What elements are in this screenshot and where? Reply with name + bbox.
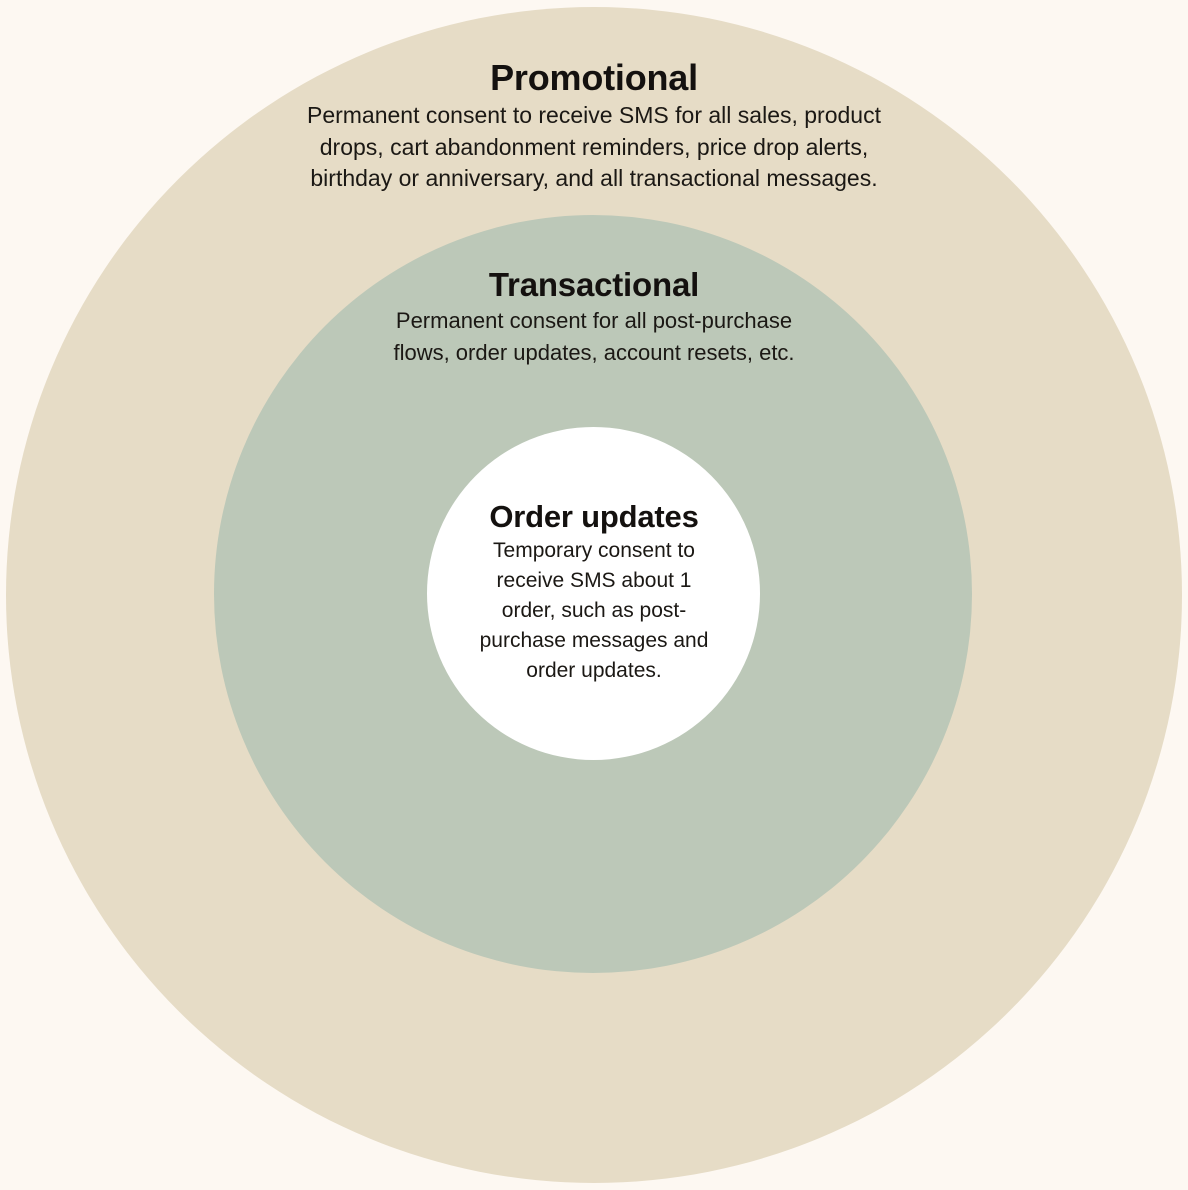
order-updates-text-block: Order updates Temporary consent to recei…	[440, 497, 748, 686]
order-updates-title: Order updates	[440, 497, 748, 536]
transactional-title: Transactional	[348, 264, 840, 305]
order-updates-description: Temporary consent to receive SMS about 1…	[440, 536, 748, 686]
consent-tiers-diagram: Promotional Permanent consent to receive…	[0, 0, 1188, 1190]
transactional-text-block: Transactional Permanent consent for all …	[348, 264, 840, 369]
transactional-description: Permanent consent for all post-purchase …	[348, 305, 840, 369]
promotional-title: Promotional	[269, 56, 919, 100]
promotional-description: Permanent consent to receive SMS for all…	[269, 100, 919, 195]
promotional-text-block: Promotional Permanent consent to receive…	[269, 56, 919, 195]
